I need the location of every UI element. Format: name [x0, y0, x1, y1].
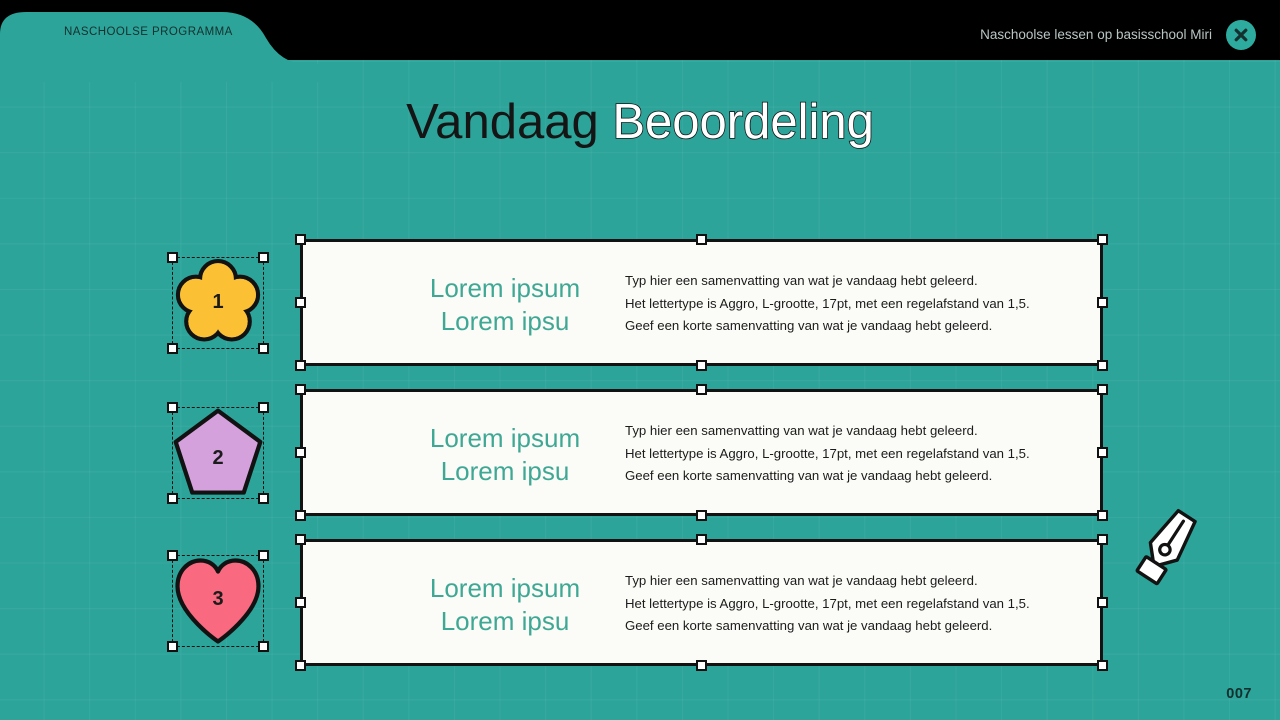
resize-handle-bottom-left[interactable]	[295, 660, 306, 671]
resize-handle-middle-right[interactable]	[1097, 447, 1108, 458]
resize-handle-top-center[interactable]	[696, 234, 707, 245]
page-number: 007	[1226, 686, 1252, 702]
content-card[interactable]: Lorem ipsum Lorem ipsu Typ hier een same…	[300, 389, 1103, 516]
resize-handle-bottom-center[interactable]	[696, 660, 707, 671]
card-body-line3: Geef een korte samenvatting van wat je v…	[625, 465, 1095, 488]
resize-handle-middle-right[interactable]	[1097, 297, 1108, 308]
card-body-line3: Geef een korte samenvatting van wat je v…	[625, 615, 1095, 638]
card-body-line3: Geef een korte samenvatting van wat je v…	[625, 315, 1095, 338]
card-heading-line1: Lorem ipsum	[355, 572, 655, 605]
selection-outline	[172, 407, 264, 499]
card-body[interactable]: Typ hier een samenvatting van wat je van…	[625, 270, 1095, 338]
resize-handle-bottom-left[interactable]	[167, 343, 178, 354]
resize-handle-bottom-right[interactable]	[258, 493, 269, 504]
resize-handle-bottom-right[interactable]	[1097, 660, 1108, 671]
resize-handle-top-left[interactable]	[167, 252, 178, 263]
resize-handle-middle-right[interactable]	[1097, 597, 1108, 608]
resize-handle-bottom-right[interactable]	[258, 343, 269, 354]
resize-handle-bottom-left[interactable]	[295, 360, 306, 371]
card-heading[interactable]: Lorem ipsum Lorem ipsu	[355, 422, 655, 487]
resize-handle-bottom-right[interactable]	[258, 641, 269, 652]
card-heading[interactable]: Lorem ipsum Lorem ipsu	[355, 272, 655, 337]
content-card[interactable]: Lorem ipsum Lorem ipsu Typ hier een same…	[300, 539, 1103, 666]
resize-handle-bottom-left[interactable]	[295, 510, 306, 521]
card-body-line2: Het lettertype is Aggro, L-grootte, 17pt…	[625, 293, 1095, 316]
document-tab[interactable]	[0, 12, 310, 72]
resize-handle-bottom-center[interactable]	[696, 510, 707, 521]
pen-nib-cursor-icon	[1126, 508, 1206, 588]
content-card[interactable]: Lorem ipsum Lorem ipsu Typ hier een same…	[300, 239, 1103, 366]
resize-handle-middle-left[interactable]	[295, 447, 306, 458]
resize-handle-middle-left[interactable]	[295, 597, 306, 608]
resize-handle-top-right[interactable]	[258, 252, 269, 263]
resize-handle-top-center[interactable]	[696, 384, 707, 395]
resize-handle-top-left[interactable]	[295, 384, 306, 395]
card-heading-line2: Lorem ipsu	[355, 305, 655, 338]
card-body-line2: Het lettertype is Aggro, L-grootte, 17pt…	[625, 443, 1095, 466]
document-tab-label: NASCHOOLSE PROGRAMMA	[64, 26, 233, 38]
resize-handle-top-left[interactable]	[295, 534, 306, 545]
card-heading-line1: Lorem ipsum	[355, 272, 655, 305]
resize-handle-middle-left[interactable]	[295, 297, 306, 308]
card-body-line1: Typ hier een samenvatting van wat je van…	[625, 270, 1095, 293]
resize-handle-top-right[interactable]	[1097, 384, 1108, 395]
resize-handle-top-right[interactable]	[1097, 534, 1108, 545]
resize-handle-top-left[interactable]	[167, 402, 178, 413]
selection-outline	[172, 555, 264, 647]
resize-handle-bottom-left[interactable]	[167, 493, 178, 504]
card-body[interactable]: Typ hier een samenvatting van wat je van…	[625, 420, 1095, 488]
resize-handle-top-right[interactable]	[1097, 234, 1108, 245]
card-body[interactable]: Typ hier een samenvatting van wat je van…	[625, 570, 1095, 638]
selection-outline	[172, 257, 264, 349]
card-heading[interactable]: Lorem ipsum Lorem ipsu	[355, 572, 655, 637]
resize-handle-top-right[interactable]	[258, 550, 269, 561]
resize-handle-bottom-right[interactable]	[1097, 510, 1108, 521]
card-heading-line1: Lorem ipsum	[355, 422, 655, 455]
document-title: Naschoolse lessen op basisschool Miri	[980, 27, 1212, 42]
page-title-part2: Beoordeling	[612, 95, 874, 149]
resize-handle-bottom-left[interactable]	[167, 641, 178, 652]
card-heading-line2: Lorem ipsu	[355, 605, 655, 638]
card-body-line1: Typ hier een samenvatting van wat je van…	[625, 570, 1095, 593]
resize-handle-top-center[interactable]	[696, 534, 707, 545]
close-button[interactable]	[1226, 20, 1256, 50]
resize-handle-top-left[interactable]	[167, 550, 178, 561]
shape-heart-group[interactable]: 3	[172, 555, 264, 647]
shape-flower-group[interactable]: 1	[172, 257, 264, 349]
resize-handle-top-left[interactable]	[295, 234, 306, 245]
resize-handle-bottom-center[interactable]	[696, 360, 707, 371]
card-heading-line2: Lorem ipsu	[355, 455, 655, 488]
page-title-part1: Vandaag	[406, 95, 612, 149]
slide-editor-window: NASCHOOLSE PROGRAMMA Naschoolse lessen o…	[0, 0, 1280, 720]
shape-pentagon-group[interactable]: 2	[172, 407, 264, 499]
page-title: Vandaag Beoordeling	[0, 98, 1280, 147]
card-body-line2: Het lettertype is Aggro, L-grootte, 17pt…	[625, 593, 1095, 616]
resize-handle-top-right[interactable]	[258, 402, 269, 413]
card-body-line1: Typ hier een samenvatting van wat je van…	[625, 420, 1095, 443]
resize-handle-bottom-right[interactable]	[1097, 360, 1108, 371]
